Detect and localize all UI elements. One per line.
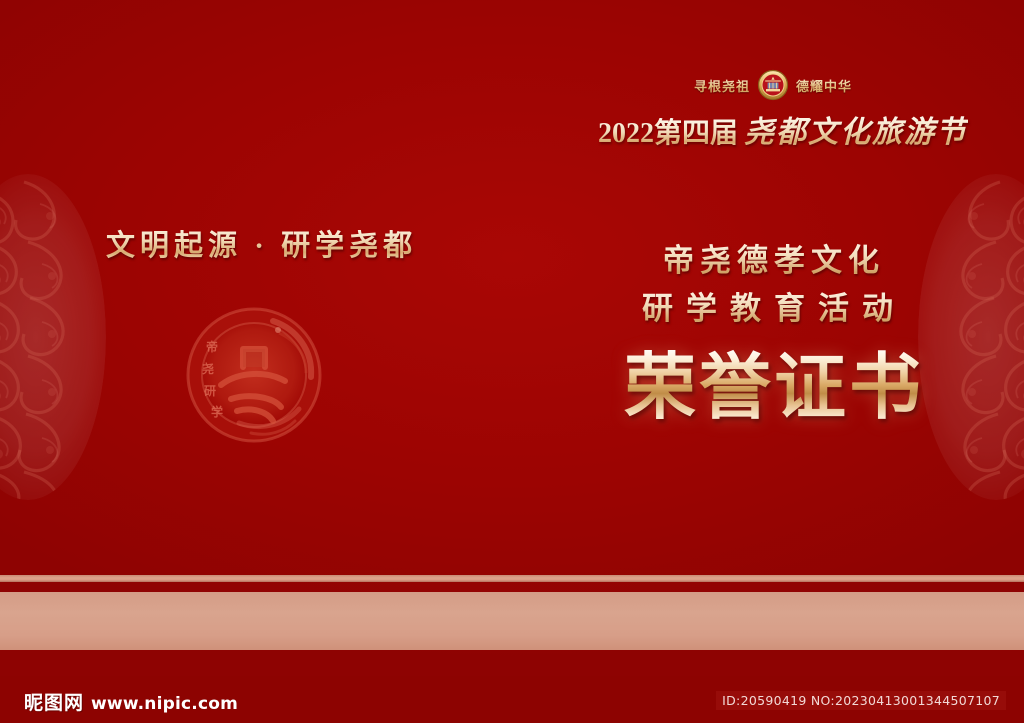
footer-brand-name: 昵图网 [24, 688, 84, 715]
svg-text:帝: 帝 [206, 339, 218, 354]
circular-watermark-seal-icon: 帝 尧 研 学 [181, 303, 327, 447]
decorative-hairline-band [0, 575, 1024, 582]
event-title-line-2: 研学教育活动 [598, 285, 950, 333]
festival-headline: 2022第四届尧都文化旅游节 [598, 118, 950, 148]
footer-brand: 昵图网 www.nipic.com [24, 688, 238, 715]
event-title-line-1: 帝尧德孝文化 [598, 237, 950, 285]
festival-name-text: 尧都文化旅游节 [744, 115, 968, 150]
left-slogan-text: 文明起源 · 研学尧都 [106, 222, 417, 264]
festival-year-text: 2022第四届 [598, 118, 738, 149]
motto-left-text: 寻根尧祖 [694, 76, 750, 95]
footer-id-text: ID:20590419 NO:20230413001344507107 [716, 691, 1006, 710]
circular-gold-emblem-icon [757, 69, 789, 101]
header-badge-cluster: 寻根尧祖 德耀中华 [628, 66, 918, 104]
footer-brand-url: www.nipic.com [91, 694, 238, 714]
svg-text:学: 学 [211, 404, 223, 419]
svg-text:研: 研 [204, 384, 216, 398]
certificate-title: 荣誉证书 [598, 347, 950, 430]
decorative-wide-band [0, 592, 1024, 650]
certificate-canvas: 寻根尧祖 德耀中华 2022 [0, 0, 1024, 723]
event-title-block: 帝尧德孝文化 研学教育活动 [598, 237, 950, 333]
motto-right-text: 德耀中华 [796, 76, 852, 95]
svg-text:尧: 尧 [202, 361, 214, 376]
